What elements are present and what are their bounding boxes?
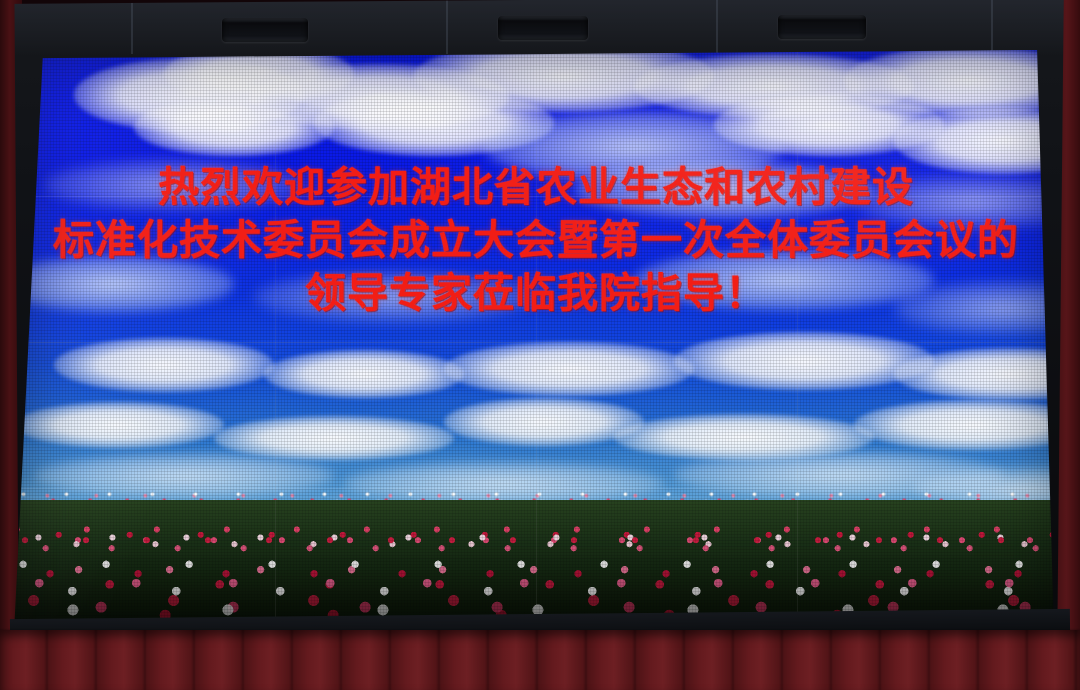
- cabinet-panel-seam: [446, 0, 448, 54]
- vent-slot-icon: [222, 18, 308, 42]
- banner-line-2: 标准化技术委员会成立大会暨第一次全体委员会议的: [14, 214, 1058, 267]
- vent-slot-icon: [778, 15, 866, 39]
- banner-line-3: 领导专家莅临我院指导！: [14, 267, 1058, 320]
- welcome-banner: 热烈欢迎参加湖北省农业生态和农村建设 标准化技术委员会成立大会暨第一次全体委员会…: [14, 161, 1058, 320]
- wood-wall-paneling: [0, 630, 1080, 690]
- banner-line-1: 热烈欢迎参加湖北省农业生态和农村建设: [14, 161, 1058, 214]
- screen-content: 热烈欢迎参加湖北省农业生态和农村建设 标准化技术委员会成立大会暨第一次全体委员会…: [14, 50, 1058, 634]
- cabinet-panel-seam: [716, 0, 718, 54]
- led-panel-seam: [797, 50, 798, 634]
- cabinet-panel-seam: [991, 0, 993, 54]
- led-screen-surface: 热烈欢迎参加湖北省农业生态和农村建设 标准化技术委员会成立大会暨第一次全体委员会…: [14, 50, 1058, 634]
- vent-slot-icon: [498, 16, 588, 40]
- led-panel-seam: [275, 50, 276, 634]
- led-panel-seam: [536, 50, 537, 634]
- cabinet-panel-seam: [131, 0, 133, 54]
- photo-scene: 热烈欢迎参加湖北省农业生态和农村建设 标准化技术委员会成立大会暨第一次全体委员会…: [0, 0, 1080, 690]
